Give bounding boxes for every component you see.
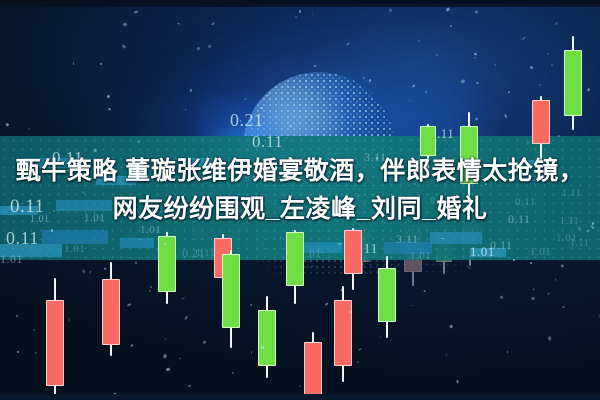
sparkle-speck (260, 107, 263, 109)
candlestick-down (344, 228, 362, 290)
cyan-bar (0, 244, 62, 257)
sparkle-speck (425, 90, 427, 93)
candlestick-up (564, 36, 582, 130)
sparkle-speck (532, 297, 535, 300)
candle-body (564, 50, 582, 116)
candlestick-up (378, 256, 396, 338)
cyan-bar (430, 232, 482, 244)
candlestick-up (222, 250, 240, 348)
candlestick-down (102, 262, 120, 356)
candle-body (222, 254, 240, 328)
cyan-bar (120, 238, 154, 248)
banner-image: 0.110.110.111.011.011.011.011.110.210.11… (0, 0, 600, 400)
headline-line-1: 甄牛策略 董璇张维伊婚宴敬酒，伴郎表情太抢镜， (6, 152, 594, 190)
candlestick-up (258, 296, 276, 378)
candle-body (46, 300, 64, 386)
candle-body (344, 230, 362, 274)
sparkle-speck (561, 264, 563, 267)
sparkle-speck (104, 267, 106, 270)
sparkle-speck (506, 350, 508, 352)
sparkle-speck (476, 82, 479, 84)
sparkle-speck (148, 289, 150, 291)
candle-body (304, 342, 322, 400)
candlestick-down (46, 278, 64, 396)
cyan-bar (42, 230, 108, 244)
headline-line-2: 网友纷纷围观_左凌峰_刘同_婚礼 (6, 190, 594, 228)
candle-body (102, 279, 120, 345)
cyan-bar (384, 242, 432, 254)
sparkle-speck (538, 83, 541, 86)
candle-body (158, 236, 176, 292)
sparkle-speck (266, 94, 269, 96)
candlestick-down (304, 332, 322, 400)
sparkle-speck (298, 385, 300, 387)
top-edge-strip (0, 0, 600, 7)
candle-body (532, 100, 550, 144)
sparkle-speck (456, 380, 458, 383)
bottom-edge-strip (0, 394, 600, 400)
sparkle-speck (449, 324, 452, 327)
sparkle-speck (51, 229, 53, 232)
candle-body (286, 232, 304, 286)
candlestick-down (334, 286, 352, 382)
candle-body (258, 310, 276, 366)
sparkle-speck (185, 108, 186, 109)
page-title: 甄牛策略 董璇张维伊婚宴敬酒，伴郎表情太抢镜， 网友纷纷围观_左凌峰_刘同_婚礼 (0, 152, 600, 228)
cyan-bar (470, 248, 506, 257)
candle-body (378, 268, 396, 322)
candlestick-up (286, 230, 304, 304)
sparkle-speck (284, 83, 286, 86)
